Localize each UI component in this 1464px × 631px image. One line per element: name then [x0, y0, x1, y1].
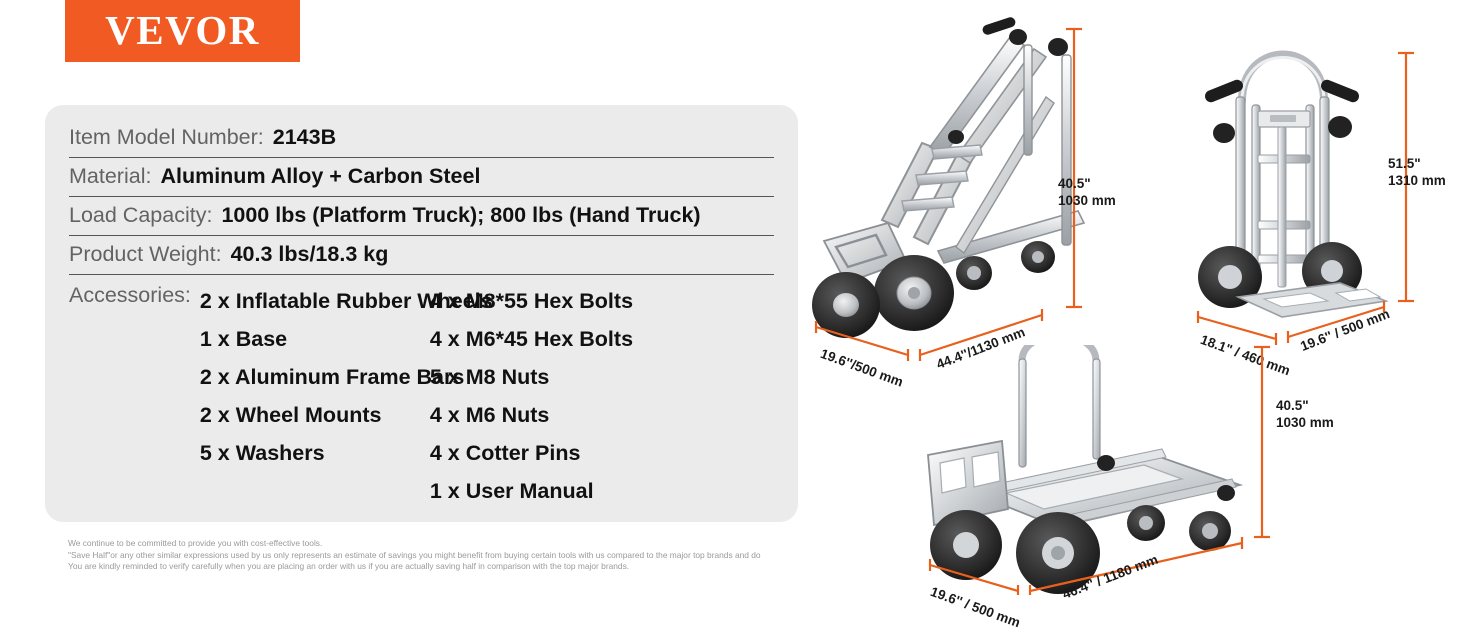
convertible-height-label: 40.5" 1030 mm — [1058, 175, 1116, 209]
accessory-item: 5 x Washers — [200, 434, 430, 472]
specification-panel: Item Model Number: 2143B Material: Alumi… — [45, 105, 798, 522]
accessory-item: 1 x Base — [200, 320, 430, 358]
accessory-item: 2 x Inflatable Rubber Wheels — [200, 282, 430, 320]
spec-label-material: Material: — [69, 164, 160, 189]
spec-row-product-weight: Product Weight: 40.3 lbs/18.3 kg — [69, 236, 774, 275]
spec-row-accessories: Accessories: 2 x Inflatable Rubber Wheel… — [69, 275, 774, 517]
disclaimer-line-1: We continue to be committed to provide y… — [68, 538, 848, 550]
spec-row-load-capacity: Load Capacity: 1000 lbs (Platform Truck)… — [69, 197, 774, 236]
accessory-item: 5 x M8 Nuts — [430, 358, 660, 396]
spec-value-load-capacity: 1000 lbs (Platform Truck); 800 lbs (Hand… — [221, 203, 700, 228]
hand-truck-figure: 51.5" 1310 mm 18.1" / 460 mm 19.6'' / 50… — [1190, 5, 1464, 355]
spec-label-accessories: Accessories: — [69, 282, 200, 308]
accessories-columns: 2 x Inflatable Rubber Wheels 1 x Base 2 … — [200, 282, 774, 510]
accessories-column-left: 2 x Inflatable Rubber Wheels 1 x Base 2 … — [200, 282, 430, 510]
accessory-item: 4 x M8*55 Hex Bolts — [430, 282, 660, 320]
product-illustrations: 40.5" 1030 mm 19.6''/500 mm 44.4''/1130 … — [800, 0, 1464, 600]
accessory-item: 2 x Wheel Mounts — [200, 396, 430, 434]
disclaimer-text: We continue to be committed to provide y… — [68, 538, 848, 573]
accessory-item: 4 x Cotter Pins — [430, 434, 660, 472]
accessory-item: 2 x Aluminum Frame Bars — [200, 358, 430, 396]
spec-label-product-weight: Product Weight: — [69, 242, 231, 267]
accessories-column-right: 4 x M8*55 Hex Bolts 4 x M6*45 Hex Bolts … — [430, 282, 660, 510]
brand-wordmark: VEVOR — [105, 10, 260, 53]
hand-truck-height-label: 51.5" 1310 mm — [1388, 155, 1446, 189]
spec-label-load-capacity: Load Capacity: — [69, 203, 221, 228]
spec-value-material: Aluminum Alloy + Carbon Steel — [160, 164, 480, 189]
accessory-item: 1 x User Manual — [430, 472, 660, 510]
spec-row-material: Material: Aluminum Alloy + Carbon Steel — [69, 158, 774, 197]
platform-truck-figure: 40.5" 1030 mm 19.6'' / 500 mm 46.4'' / 1… — [910, 345, 1330, 595]
vevor-logo: VEVOR — [65, 0, 300, 62]
spec-row-model-number: Item Model Number: 2143B — [69, 119, 774, 158]
platform-height-inches: 40.5" — [1276, 397, 1334, 414]
spec-value-product-weight: 40.3 lbs/18.3 kg — [231, 242, 389, 267]
accessory-item: 4 x M6 Nuts — [430, 396, 660, 434]
platform-height-label: 40.5" 1030 mm — [1276, 397, 1334, 431]
disclaimer-line-2: "Save Half"or any other similar expressi… — [68, 550, 848, 562]
hand-truck-height-mm: 1310 mm — [1388, 172, 1446, 189]
hand-truck-height-inches: 51.5" — [1388, 155, 1446, 172]
convertible-height-inches: 40.5" — [1058, 175, 1116, 192]
accessory-item: 4 x M6*45 Hex Bolts — [430, 320, 660, 358]
spec-label-model-number: Item Model Number: — [69, 125, 273, 150]
convertible-height-mm: 1030 mm — [1058, 192, 1116, 209]
disclaimer-line-3: You are kindly reminded to verify carefu… — [68, 561, 848, 573]
platform-truck-illustration — [910, 345, 1330, 595]
spec-value-model-number: 2143B — [273, 125, 336, 150]
convertible-truck-figure: 40.5" 1030 mm 19.6''/500 mm 44.4''/1130 … — [810, 15, 1110, 375]
platform-height-mm: 1030 mm — [1276, 414, 1334, 431]
